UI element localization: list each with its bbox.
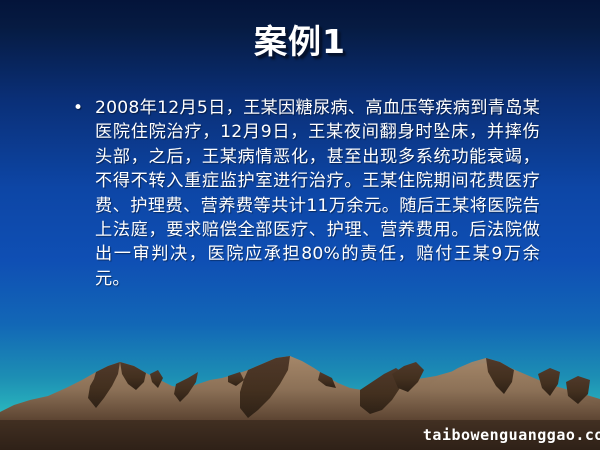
body-paragraph: 2008年12月5日，王某因糖尿病、高血压等疾病到青岛某医院住院治疗，12月9日…: [95, 96, 540, 291]
slide-body-container: • 2008年12月5日，王某因糖尿病、高血压等疾病到青岛某医院住院治疗，12月…: [70, 96, 540, 291]
page-title: 案例1: [254, 22, 346, 62]
slide-title-container: 案例1: [0, 22, 600, 62]
presentation-slide: 案例1 • 2008年12月5日，王某因糖尿病、高血压等疾病到青岛某医院住院治疗…: [0, 0, 600, 450]
bullet-icon: •: [70, 96, 95, 120]
watermark-text: taibowenguanggao.co: [423, 426, 600, 444]
